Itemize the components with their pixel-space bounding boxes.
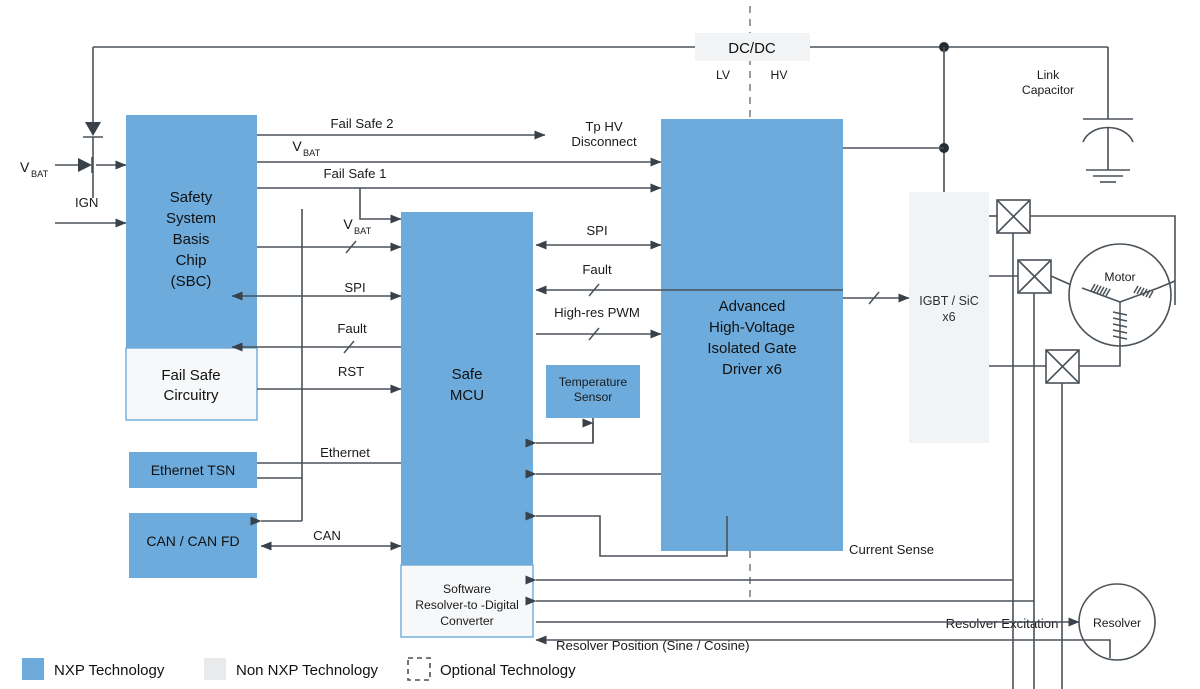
- fail-safe-circuitry-block: [126, 348, 257, 420]
- rst-label: RST: [338, 364, 364, 379]
- link-capacitor-label-line2: Capacitor: [1022, 83, 1074, 97]
- fail-safe-circuitry-line2: Circuitry: [164, 387, 219, 404]
- can-label: CAN / CAN FD: [146, 533, 239, 549]
- fault-mcu-gd-label: Fault: [582, 262, 612, 277]
- sbc-label-line3: Basis: [173, 231, 210, 248]
- switch-1-cross: [997, 200, 1030, 233]
- wire-temp-sensor-to-mcu: [536, 418, 593, 443]
- block-diagram-canvas: DC/DC LV HV Link Capacitor V BAT IGN Saf…: [0, 0, 1200, 689]
- temp-sensor-line1: Temperature: [559, 375, 628, 389]
- dcdc-hv-label: HV: [771, 68, 789, 82]
- legend-label-nxp: NXP Technology: [54, 662, 165, 679]
- spi-mcu-gd-label: SPI: [586, 223, 607, 238]
- temp-sensor-line2: Sensor: [574, 390, 613, 404]
- mcu-label-line2: MCU: [450, 387, 484, 404]
- vbat-top-label: V: [292, 138, 302, 154]
- sbc-label-line1: Safety: [170, 189, 213, 206]
- sbc-label-line5: (SBC): [171, 273, 212, 290]
- dcdc-label: DC/DC: [728, 40, 776, 57]
- tp-hv-disconnect-line2: Disconnect: [571, 134, 637, 149]
- ethernet-label: Ethernet: [320, 445, 370, 460]
- rdc-label-line2: Resolver-to -Digital: [415, 598, 519, 612]
- fail-safe-2-label: Fail Safe 2: [330, 116, 393, 131]
- can-signal-label: CAN: [313, 528, 341, 543]
- diode-vertical-triangle: [85, 122, 101, 136]
- motor-label: Motor: [1104, 270, 1135, 284]
- vbat-top-sublabel: BAT: [303, 148, 321, 158]
- vbat-mcu-label: V: [343, 216, 353, 232]
- current-sense-label: Current Sense: [849, 542, 934, 557]
- legend-swatch-nxp: [22, 658, 44, 680]
- diagram-svg: DC/DC LV HV Link Capacitor V BAT IGN Saf…: [0, 0, 1200, 689]
- gate-driver-line2: High-Voltage: [709, 319, 795, 336]
- legend-swatch-non-nxp: [204, 658, 226, 680]
- vbat-input-label: V: [20, 159, 30, 175]
- rdc-label-line1: Software: [443, 582, 491, 596]
- vbat-mcu-sublabel: BAT: [354, 226, 372, 236]
- mcu-label-line1: Safe: [452, 366, 483, 383]
- switch-3-cross: [1046, 350, 1079, 383]
- gate-driver-line4: Driver x6: [722, 361, 782, 378]
- sbc-label-line4: Chip: [176, 252, 207, 269]
- legend-label-non-nxp: Non NXP Technology: [236, 662, 379, 679]
- ign-label: IGN: [75, 195, 98, 210]
- gate-driver-line3: Isolated Gate: [707, 340, 796, 357]
- fail-safe-1-label: Fail Safe 1: [323, 166, 386, 181]
- wire-ethernet-branch-up: [257, 434, 302, 478]
- dcdc-lv-label: LV: [716, 68, 731, 82]
- tp-hv-disconnect-line1: Tp HV: [585, 119, 623, 134]
- rdc-label-line3: Converter: [440, 614, 494, 628]
- resolver-excitation-label: Resolver Excitation: [946, 616, 1059, 631]
- igbt-label-line2: x6: [942, 310, 955, 324]
- igbt-label-line1: IGBT / SiC: [919, 294, 979, 308]
- vbat-input-sublabel: BAT: [31, 169, 49, 179]
- wire-fail-safe-1-branch-mcu: [360, 188, 401, 219]
- spi-sbc-mcu-label: SPI: [344, 280, 365, 295]
- ethernet-tsn-label: Ethernet TSN: [151, 462, 236, 478]
- fault-sbc-mcu-label: Fault: [337, 321, 367, 336]
- sbc-label-line2: System: [166, 210, 216, 227]
- gate-driver-line1: Advanced: [719, 298, 786, 315]
- resolver-label: Resolver: [1093, 616, 1141, 630]
- switch-2-cross: [1018, 260, 1051, 293]
- link-capacitor-label-line1: Link: [1037, 68, 1060, 82]
- diode-horizontal-triangle: [78, 158, 92, 172]
- legend-label-optional: Optional Technology: [440, 662, 576, 679]
- legend-swatch-optional: [408, 658, 430, 680]
- high-res-pwm-label: High-res PWM: [554, 305, 640, 320]
- fail-safe-circuitry-line1: Fail Safe: [161, 367, 220, 384]
